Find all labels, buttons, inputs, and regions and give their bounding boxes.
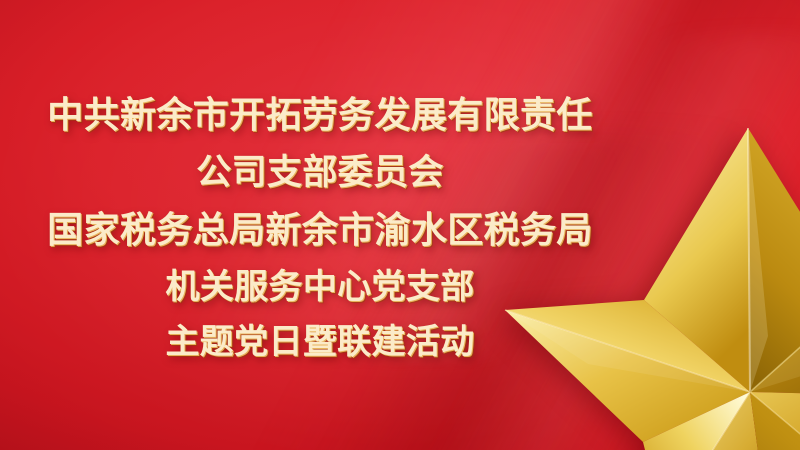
- title-block: 中共新余市开拓劳务发展有限责任 公司支部委员会 国家税务总局新余市渝水区税务局 …: [0, 0, 640, 450]
- title-line-5: 主题党日暨联建活动: [165, 315, 474, 370]
- title-line-4: 机关服务中心党支部: [165, 260, 474, 315]
- title-line-2: 公司支部委员会: [196, 145, 443, 202]
- title-line-3: 国家税务总局新余市渝水区税务局: [47, 201, 592, 259]
- title-line-1: 中共新余市开拓劳务发展有限责任: [47, 86, 592, 144]
- poster-canvas: 中共新余市开拓劳务发展有限责任 公司支部委员会 国家税务总局新余市渝水区税务局 …: [0, 0, 800, 450]
